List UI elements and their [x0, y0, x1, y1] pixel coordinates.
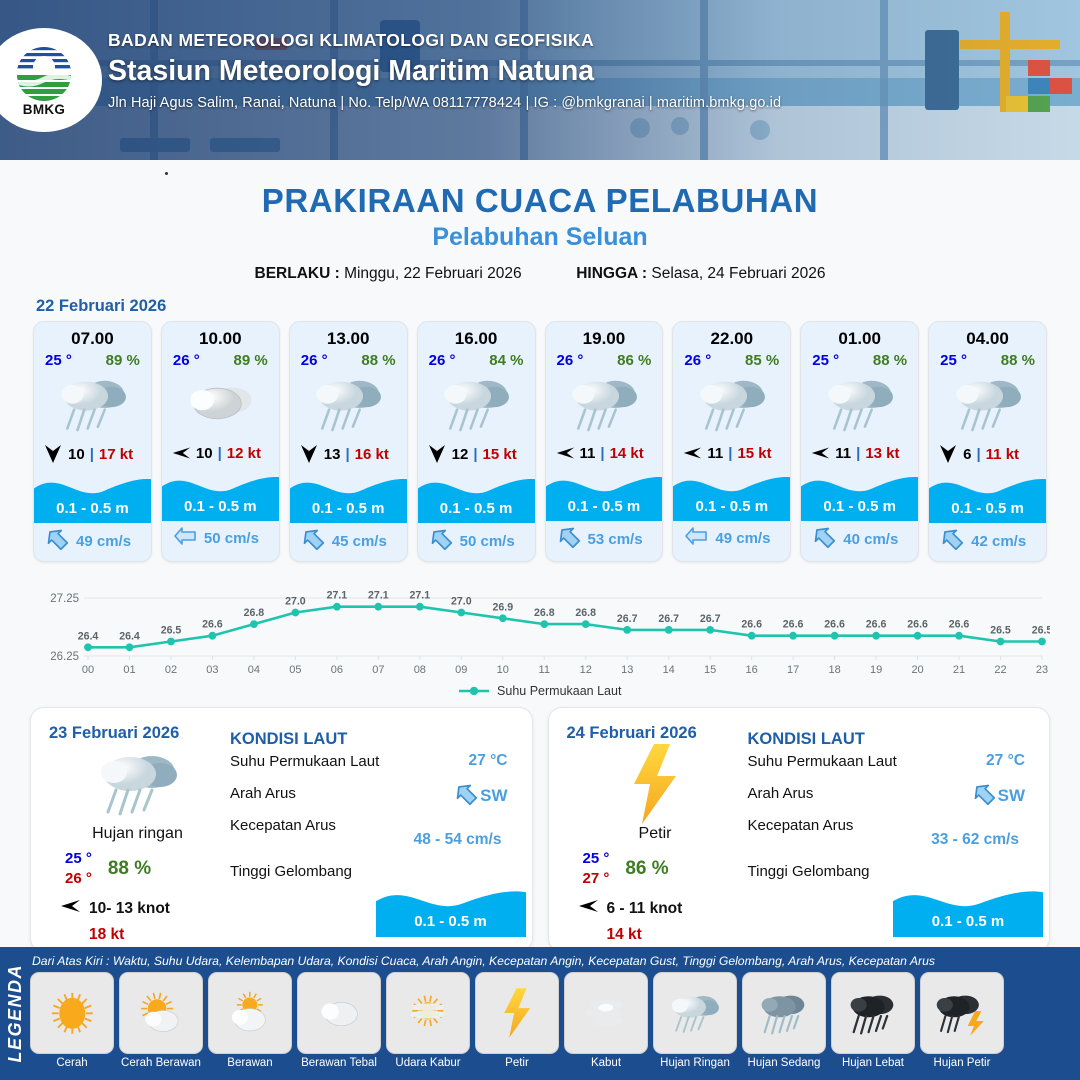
svg-text:26.6: 26.6: [949, 619, 970, 631]
valid-until-label: HINGGA :: [576, 265, 647, 282]
svg-text:26.8: 26.8: [575, 607, 596, 619]
legend-item: Hujan Ringan: [653, 972, 737, 1069]
legend-caption: Dari Atas Kiri : Waktu, Suhu Udara, Kele…: [30, 951, 1074, 972]
cloud-sun-icon: [208, 972, 292, 1054]
card-temperature: 25 °: [940, 352, 967, 369]
panel-temp-max: 26 °: [65, 869, 92, 889]
legend-item: Kabut: [564, 972, 648, 1069]
legend-side-label: LEGENDA: [0, 947, 30, 1080]
hourly-forecast-card: 04.00 25 ° 88 % 6 | 11 kt 0.1 - 0.5 m 42…: [928, 321, 1047, 562]
decorative-dot: [165, 172, 168, 175]
sun-icon: [30, 972, 114, 1054]
card-temperature: 26 °: [173, 352, 200, 369]
wind-separator: |: [218, 445, 222, 462]
rain-light-icon: [49, 745, 226, 823]
card-wind-speed: 10: [68, 446, 85, 463]
card-humidity: 88 %: [361, 352, 395, 369]
card-wind-row: 11 | 13 kt: [801, 441, 918, 467]
card-current-speed: 45 cm/s: [332, 533, 387, 550]
legend-item-label: Cerah Berawan: [119, 1057, 203, 1069]
sea-condition-title: KONDISI LAUT: [230, 730, 516, 749]
card-current-speed: 49 cm/s: [715, 530, 770, 547]
svg-text:16: 16: [746, 664, 758, 676]
rain-light-icon: [653, 972, 737, 1054]
card-wind-speed: 12: [452, 446, 469, 463]
svg-text:26.6: 26.6: [202, 619, 223, 631]
panel-wave-band: 0.1 - 0.5 m: [376, 881, 526, 937]
thunder-icon: [567, 745, 744, 823]
card-temperature: 26 °: [684, 352, 711, 369]
card-humidity: 86 %: [617, 352, 651, 369]
card-humidity: 88 %: [873, 352, 907, 369]
card-time: 04.00: [929, 322, 1046, 349]
wind-separator: |: [90, 446, 94, 463]
wind-direction-arrow-icon: [43, 443, 63, 465]
bmkg-logo-mark: [13, 43, 75, 101]
svg-text:26.6: 26.6: [866, 619, 887, 631]
legend-item-label: Berawan Tebal: [297, 1057, 381, 1069]
card-wind-row: 11 | 15 kt: [673, 441, 790, 467]
current-direction-arrow-icon: [684, 526, 708, 550]
card-wind-speed: 11: [580, 445, 596, 462]
card-wind-gust: 12 kt: [227, 445, 261, 462]
rain-moderate-icon: [742, 972, 826, 1054]
rain-light-icon: [290, 369, 407, 441]
hourly-forecast-card: 07.00 25 ° 89 % 10 | 17 kt 0.1 - 0.5 m 4…: [33, 321, 152, 562]
svg-text:26.7: 26.7: [700, 613, 721, 625]
card-wind-gust: 13 kt: [865, 445, 899, 462]
wind-separator: |: [345, 446, 349, 463]
current-direction-arrow-icon: [45, 528, 69, 554]
panel-gust: 18 kt: [89, 926, 226, 944]
wind-direction-arrow-icon: [427, 443, 447, 465]
svg-text:27.1: 27.1: [368, 590, 389, 602]
card-wind-gust: 14 kt: [610, 445, 644, 462]
sst-chart: 27.2526.25000102030405060708091011121314…: [30, 572, 1050, 682]
svg-text:19: 19: [870, 664, 882, 676]
wind-direction-arrow-icon: [555, 443, 575, 463]
card-current-speed: 50 cm/s: [460, 533, 515, 550]
card-wave-band: 0.1 - 0.5 m: [34, 469, 151, 523]
current-direction-arrow-icon: [301, 528, 325, 554]
rain-light-icon: [673, 369, 790, 441]
svg-text:26.7: 26.7: [617, 613, 638, 625]
svg-text:27.0: 27.0: [451, 596, 472, 608]
station-name: Stasiun Meteorologi Maritim Natuna: [108, 55, 781, 88]
svg-text:27.1: 27.1: [327, 590, 348, 602]
cloudy-icon: [162, 369, 279, 441]
card-wave-band: 0.1 - 0.5 m: [290, 469, 407, 523]
card-time: 07.00: [34, 322, 151, 349]
cloud-thick-icon: [297, 972, 381, 1054]
legend-item-label: Hujan Lebat: [831, 1057, 915, 1069]
svg-text:06: 06: [331, 664, 343, 676]
card-current-speed: 53 cm/s: [588, 531, 643, 548]
card-wave-height: 0.1 - 0.5 m: [34, 500, 151, 517]
hourly-forecast-card: 01.00 25 ° 88 % 11 | 13 kt 0.1 - 0.5 m 4…: [800, 321, 919, 562]
legend-item-label: Hujan Sedang: [742, 1057, 826, 1069]
current-speed-value: 33 - 62 cm/s: [931, 831, 1019, 849]
bmkg-logo-text: BMKG: [23, 102, 65, 117]
svg-text:07: 07: [372, 664, 384, 676]
legend-item: Hujan Sedang: [742, 972, 826, 1069]
legend-items-row: Cerah Cerah Berawan Berawan Berawan Teba…: [30, 972, 1074, 1069]
svg-text:20: 20: [911, 664, 923, 676]
svg-text:05: 05: [289, 664, 301, 676]
card-wave-height: 0.1 - 0.5 m: [673, 498, 790, 515]
hourly-forecast-card: 16.00 26 ° 84 % 12 | 15 kt 0.1 - 0.5 m 5…: [417, 321, 536, 562]
sst-label: Suhu Permukaan Laut: [230, 753, 379, 770]
current-direction-arrow-icon: [173, 526, 197, 550]
wind-separator: |: [473, 446, 477, 463]
valid-until-value: Selasa, 24 Februari 2026: [651, 265, 825, 282]
svg-text:14: 14: [663, 664, 675, 676]
haze-icon: [386, 972, 470, 1054]
sst-value: 27 °C: [986, 752, 1025, 770]
wind-direction-arrow-icon: [171, 443, 191, 463]
card-time: 13.00: [290, 322, 407, 349]
svg-text:26.4: 26.4: [119, 630, 140, 642]
card-wind-gust: 17 kt: [99, 446, 133, 463]
current-speed-value: 48 - 54 cm/s: [414, 831, 502, 849]
page-header: BMKG BADAN METEOROLOGI KLIMATOLOGI DAN G…: [0, 0, 1080, 160]
svg-text:26.6: 26.6: [741, 619, 762, 631]
svg-text:26.9: 26.9: [492, 601, 513, 613]
chart-legend-label: Suhu Permukaan Laut: [497, 684, 621, 698]
card-wind-row: 12 | 15 kt: [418, 441, 535, 469]
svg-text:03: 03: [206, 664, 218, 676]
svg-text:18: 18: [828, 664, 840, 676]
card-wind-gust: 16 kt: [355, 446, 389, 463]
legend-item-label: Berawan: [208, 1057, 292, 1069]
card-current-speed: 49 cm/s: [76, 533, 131, 550]
panel-temp-min: 25 °: [65, 849, 92, 869]
page-title: PRAKIRAAN CUACA PELABUHAN: [0, 182, 1080, 220]
svg-text:17: 17: [787, 664, 799, 676]
card-wave-height: 0.1 - 0.5 m: [801, 498, 918, 515]
valid-from-value: Minggu, 22 Februari 2026: [344, 265, 522, 282]
card-wind-gust: 11 kt: [986, 446, 1019, 463]
svg-text:27.25: 27.25: [50, 593, 79, 605]
card-humidity: 84 %: [489, 352, 523, 369]
svg-text:26.25: 26.25: [50, 651, 79, 663]
svg-text:01: 01: [123, 664, 135, 676]
svg-text:23: 23: [1036, 664, 1048, 676]
current-speed-label: Kecepatan Arus: [748, 817, 854, 834]
rain-thunder-icon: [920, 972, 1004, 1054]
panel-condition: Hujan ringan: [49, 825, 226, 843]
title-block: PRAKIRAAN CUACA PELABUHAN Pelabuhan Selu…: [0, 182, 1080, 283]
legend-item-label: Petir: [475, 1057, 559, 1069]
station-contact: Jln Haji Agus Salim, Ranai, Natuna | No.…: [108, 95, 781, 111]
thunder-icon: [475, 972, 559, 1054]
card-humidity: 89 %: [234, 352, 268, 369]
svg-text:27.1: 27.1: [409, 590, 430, 602]
card-wind-row: 10 | 12 kt: [162, 441, 279, 467]
legend-item: Cerah Berawan: [119, 972, 203, 1069]
card-wind-row: 13 | 16 kt: [290, 441, 407, 469]
legend-item: Berawan Tebal: [297, 972, 381, 1069]
forecast-date-label: 22 Februari 2026: [36, 297, 1080, 316]
hourly-forecast-card: 19.00 26 ° 86 % 11 | 14 kt 0.1 - 0.5 m 5…: [545, 321, 664, 562]
sst-value: 27 °C: [469, 752, 508, 770]
wind-separator: |: [600, 445, 604, 462]
hourly-forecast-card: 22.00 26 ° 85 % 11 | 15 kt 0.1 - 0.5 m 4…: [672, 321, 791, 562]
fog-icon: [564, 972, 648, 1054]
wind-separator: |: [976, 446, 980, 463]
validity-row: BERLAKU : Minggu, 22 Februari 2026 HINGG…: [0, 265, 1080, 283]
legend-item: Hujan Petir: [920, 972, 1004, 1069]
svg-text:26.5: 26.5: [1032, 625, 1050, 637]
panel-wave-height: 0.1 - 0.5 m: [893, 913, 1043, 930]
panel-wave-band: 0.1 - 0.5 m: [893, 881, 1043, 937]
svg-text:12: 12: [580, 664, 592, 676]
card-wave-height: 0.1 - 0.5 m: [290, 500, 407, 517]
svg-text:26.8: 26.8: [244, 607, 265, 619]
card-humidity: 88 %: [1001, 352, 1035, 369]
card-current-row: 49 cm/s: [673, 521, 790, 557]
wind-direction-arrow-icon: [938, 443, 958, 465]
current-direction-arrow-icon: [557, 526, 581, 552]
svg-text:21: 21: [953, 664, 965, 676]
svg-text:26.4: 26.4: [78, 630, 99, 642]
panel-condition: Petir: [567, 825, 744, 843]
current-direction-arrow-icon: [429, 528, 453, 554]
current-direction-arrow-icon: [454, 783, 478, 810]
wind-separator: |: [856, 445, 860, 462]
svg-text:04: 04: [248, 664, 260, 676]
panel-wave-height: 0.1 - 0.5 m: [376, 913, 526, 930]
daily-forecast-panel: 24 Februari 2026 Petir 25 ° 27 ° 86 % 6 …: [548, 707, 1051, 952]
card-wind-speed: 11: [835, 445, 851, 462]
card-wind-speed: 13: [324, 446, 341, 463]
panel-date: 24 Februari 2026: [567, 724, 744, 743]
card-current-row: 40 cm/s: [801, 521, 918, 559]
card-current-row: 42 cm/s: [929, 523, 1046, 561]
svg-text:26.6: 26.6: [783, 619, 804, 631]
rain-light-icon: [546, 369, 663, 441]
current-direction-arrow-icon: [972, 783, 996, 810]
hourly-forecast-card: 13.00 26 ° 88 % 13 | 16 kt 0.1 - 0.5 m 4…: [289, 321, 408, 562]
chart-legend-marker: [459, 685, 489, 699]
card-temperature: 26 °: [429, 352, 456, 369]
card-time: 01.00: [801, 322, 918, 349]
card-wind-gust: 15 kt: [483, 446, 517, 463]
panel-temp-min: 25 °: [583, 849, 610, 869]
card-wave-height: 0.1 - 0.5 m: [162, 498, 279, 515]
card-current-row: 49 cm/s: [34, 523, 151, 561]
legend-item-label: Hujan Ringan: [653, 1057, 737, 1069]
current-direction-value: SW: [454, 783, 507, 810]
svg-text:26.6: 26.6: [824, 619, 845, 631]
card-time: 22.00: [673, 322, 790, 349]
rain-heavy-icon: [831, 972, 915, 1054]
rain-light-icon: [929, 369, 1046, 441]
card-current-row: 53 cm/s: [546, 521, 663, 559]
current-direction-arrow-icon: [812, 526, 836, 552]
current-direction-arrow-icon: [940, 528, 964, 554]
card-wave-height: 0.1 - 0.5 m: [929, 500, 1046, 517]
card-wind-speed: 6: [963, 446, 971, 463]
hourly-forecast-card: 10.00 26 ° 89 % 10 | 12 kt 0.1 - 0.5 m 5…: [161, 321, 280, 562]
current-direction-label: Arah Arus: [230, 785, 296, 802]
card-wind-speed: 10: [196, 445, 213, 462]
panel-humidity: 86 %: [625, 858, 668, 880]
card-humidity: 89 %: [106, 352, 140, 369]
svg-text:11: 11: [539, 664, 550, 676]
daily-forecast-panel: 23 Februari 2026 Hujan ringan 25 ° 26 ° …: [30, 707, 533, 952]
card-temperature: 25 °: [812, 352, 839, 369]
card-temperature: 26 °: [557, 352, 584, 369]
card-current-row: 45 cm/s: [290, 523, 407, 561]
card-current-speed: 42 cm/s: [971, 533, 1026, 550]
valid-from-label: BERLAKU :: [255, 265, 340, 282]
panel-gust: 14 kt: [607, 926, 744, 944]
svg-text:15: 15: [704, 664, 716, 676]
svg-text:26.5: 26.5: [990, 625, 1011, 637]
agency-name: BADAN METEOROLOGI KLIMATOLOGI DAN GEOFIS…: [108, 30, 781, 51]
daily-forecast-panels: 23 Februari 2026 Hujan ringan 25 ° 26 ° …: [0, 699, 1080, 952]
card-wave-band: 0.1 - 0.5 m: [418, 469, 535, 523]
wind-direction-arrow-icon: [59, 896, 81, 921]
card-wind-row: 6 | 11 kt: [929, 441, 1046, 469]
card-current-row: 50 cm/s: [162, 521, 279, 557]
card-wind-row: 10 | 17 kt: [34, 441, 151, 469]
panel-date: 23 Februari 2026: [49, 724, 226, 743]
card-time: 16.00: [418, 322, 535, 349]
wind-separator: |: [728, 445, 732, 462]
card-wave-band: 0.1 - 0.5 m: [929, 469, 1046, 523]
card-wind-row: 11 | 14 kt: [546, 441, 663, 467]
legend-item: Hujan Lebat: [831, 972, 915, 1069]
legend-item: Udara Kabur: [386, 972, 470, 1069]
card-wave-band: 0.1 - 0.5 m: [162, 467, 279, 521]
rain-light-icon: [34, 369, 151, 441]
sst-label: Suhu Permukaan Laut: [748, 753, 897, 770]
card-temperature: 26 °: [301, 352, 328, 369]
legend-section: LEGENDA Dari Atas Kiri : Waktu, Suhu Uda…: [0, 947, 1080, 1080]
legend-item-label: Udara Kabur: [386, 1057, 470, 1069]
svg-text:13: 13: [621, 664, 633, 676]
sea-condition-title: KONDISI LAUT: [748, 730, 1034, 749]
svg-text:09: 09: [455, 664, 467, 676]
card-wave-band: 0.1 - 0.5 m: [673, 467, 790, 521]
card-wave-height: 0.1 - 0.5 m: [418, 500, 535, 517]
legend-item: Petir: [475, 972, 559, 1069]
card-humidity: 85 %: [745, 352, 779, 369]
card-wave-height: 0.1 - 0.5 m: [546, 498, 663, 515]
svg-text:02: 02: [165, 664, 177, 676]
card-current-speed: 50 cm/s: [204, 530, 259, 547]
wind-direction-arrow-icon: [299, 443, 319, 465]
wind-direction-arrow-icon: [810, 443, 830, 463]
legend-item-label: Cerah: [30, 1057, 114, 1069]
legend-item: Cerah: [30, 972, 114, 1069]
panel-wind: 10- 13 knot: [89, 900, 170, 918]
legend-item-label: Kabut: [564, 1057, 648, 1069]
card-time: 19.00: [546, 322, 663, 349]
rain-light-icon: [801, 369, 918, 441]
card-temperature: 25 °: [45, 352, 72, 369]
current-speed-label: Kecepatan Arus: [230, 817, 336, 834]
current-direction-value: SW: [972, 783, 1025, 810]
svg-text:26.8: 26.8: [534, 607, 555, 619]
sun-cloud-icon: [119, 972, 203, 1054]
card-current-speed: 40 cm/s: [843, 531, 898, 548]
wind-direction-arrow-icon: [682, 443, 702, 463]
card-time: 10.00: [162, 322, 279, 349]
svg-text:26.6: 26.6: [907, 619, 928, 631]
rain-light-icon: [418, 369, 535, 441]
svg-text:22: 22: [994, 664, 1006, 676]
card-wave-band: 0.1 - 0.5 m: [546, 467, 663, 521]
svg-text:10: 10: [497, 664, 509, 676]
card-current-row: 50 cm/s: [418, 523, 535, 561]
wind-direction-arrow-icon: [577, 896, 599, 921]
svg-text:08: 08: [414, 664, 426, 676]
svg-text:27.0: 27.0: [285, 596, 306, 608]
card-wave-band: 0.1 - 0.5 m: [801, 467, 918, 521]
panel-wind: 6 - 11 knot: [607, 900, 683, 918]
svg-text:26.5: 26.5: [161, 625, 182, 637]
svg-text:26.7: 26.7: [658, 613, 679, 625]
card-wind-speed: 11: [707, 445, 723, 462]
chart-legend: Suhu Permukaan Laut: [0, 684, 1080, 699]
wave-height-label: Tinggi Gelombang: [230, 863, 352, 880]
panel-humidity: 88 %: [108, 858, 151, 880]
svg-text:00: 00: [82, 664, 94, 676]
hourly-forecast-row: 07.00 25 ° 89 % 10 | 17 kt 0.1 - 0.5 m 4…: [0, 321, 1080, 562]
legend-item-label: Hujan Petir: [920, 1057, 1004, 1069]
panel-temp-max: 27 °: [583, 869, 610, 889]
card-wind-gust: 15 kt: [737, 445, 771, 462]
wave-height-label: Tinggi Gelombang: [748, 863, 870, 880]
port-name: Pelabuhan Seluan: [0, 223, 1080, 252]
legend-item: Berawan: [208, 972, 292, 1069]
current-direction-label: Arah Arus: [748, 785, 814, 802]
